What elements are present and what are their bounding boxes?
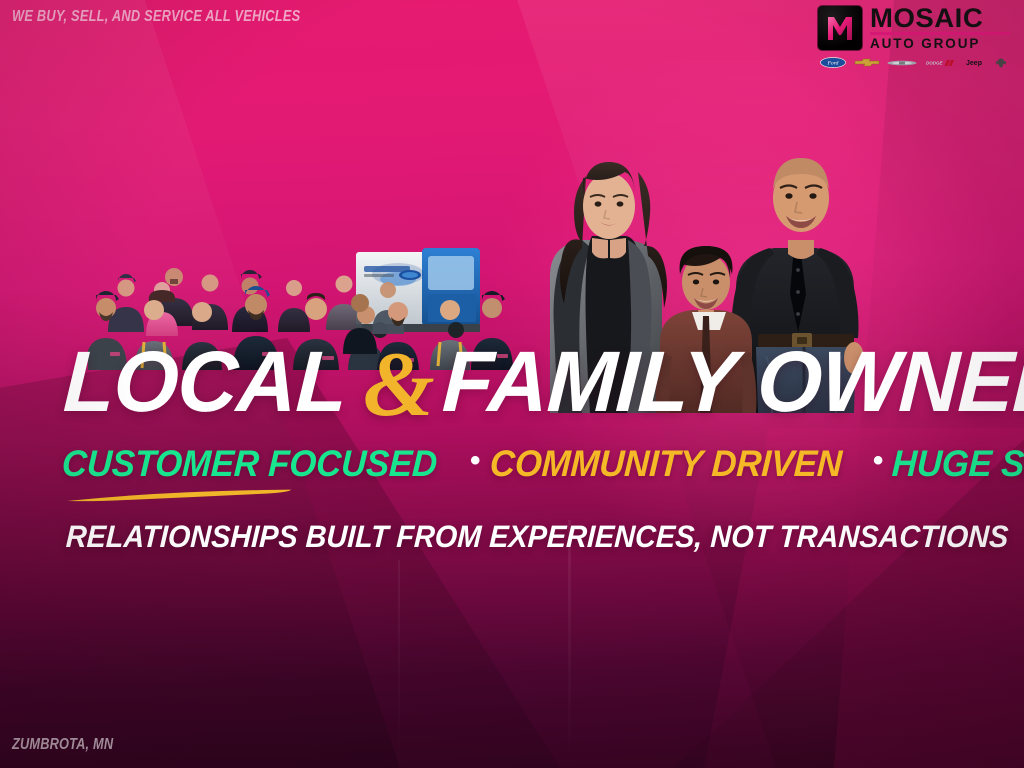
svg-text:Ford: Ford: [827, 61, 839, 67]
headline-word-local: LOCAL: [62, 346, 348, 418]
subhead: CUSTOMER FOCUSED • COMMUNITY DRIVEN • HU…: [62, 442, 982, 484]
svg-text:DODGE: DODGE: [926, 60, 944, 65]
subhead-separator-one: •: [470, 446, 481, 476]
brand-logo[interactable]: MOSAIC AUTO GROUP Ford: [818, 6, 1010, 72]
subhead-community-driven: COMMUNITY DRIVEN: [489, 445, 843, 482]
logo-mosaic-text: MOSAIC: [870, 6, 1013, 31]
banner-canvas: WE BUY, SELL, AND SERVICE ALL VEHICLES: [0, 0, 1024, 768]
brand-logo-strip: Ford DODGE: [818, 55, 1010, 70]
gold-brush-divider: [66, 489, 292, 502]
subhead-huge-selection: HUGE SELECTION: [892, 445, 1024, 482]
headline-ampersand: &: [363, 348, 435, 422]
headline-word-family-owned: FAMILY OWNED: [441, 346, 1024, 418]
location-label: ZUMBROTA, MN: [12, 736, 113, 754]
subhead-customer-focused: CUSTOMER FOCUSED: [61, 445, 438, 482]
dodge-stripes-icon: DODGE: [925, 56, 955, 69]
chevrolet-bowtie-icon: [854, 56, 880, 69]
subhead-separator-two: •: [873, 446, 884, 476]
mosaic-m-icon: [818, 6, 862, 50]
chrysler-wings-icon: [887, 56, 917, 69]
svg-text:Jeep: Jeep: [966, 60, 982, 67]
headline: LOCAL & FAMILY OWNED: [62, 344, 972, 418]
ram-head-icon: [994, 56, 1008, 69]
main-tagline: RELATIONSHIPS BUILT FROM EXPERIENCES, NO…: [65, 521, 1009, 552]
top-tagline: WE BUY, SELL, AND SERVICE ALL VEHICLES: [12, 8, 300, 26]
ford-oval-icon: Ford: [820, 56, 846, 69]
logo-auto-group-text: AUTO GROUP: [870, 37, 1010, 51]
jeep-wordmark-icon: Jeep: [962, 56, 986, 69]
